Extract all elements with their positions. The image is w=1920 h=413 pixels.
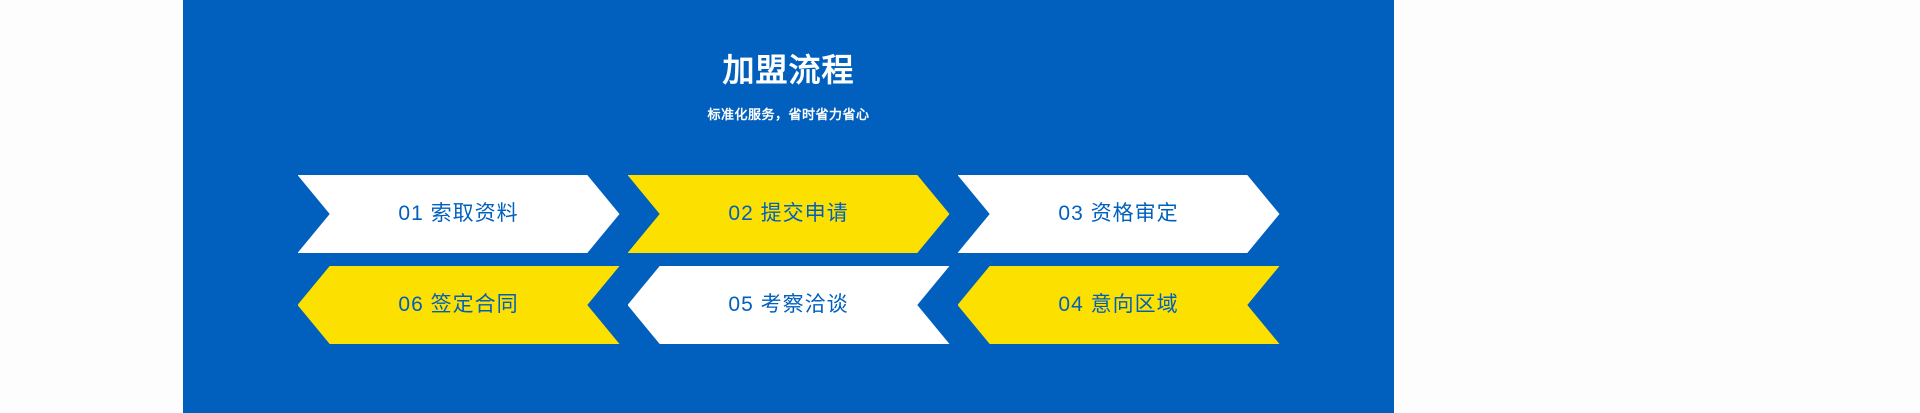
process-step-label: 01 索取资料 [384, 200, 532, 228]
process-step-03[interactable]: 03 资格审定 [958, 175, 1280, 253]
franchise-process-section: 加盟流程 标准化服务，省时省力省心 01 索取资料 02 提交申请 03 资格审… [183, 0, 1394, 413]
page-root: 加盟流程 标准化服务，省时省力省心 01 索取资料 02 提交申请 03 资格审… [0, 0, 1920, 413]
process-step-label: 03 资格审定 [1044, 200, 1192, 228]
process-flow-row-1: 01 索取资料 02 提交申请 03 资格审定 [183, 175, 1394, 253]
process-step-label: 06 签定合同 [384, 291, 532, 319]
process-flow-row-2: 06 签定合同 05 考察洽谈 04 意向区域 [183, 266, 1394, 344]
section-heading: 加盟流程 标准化服务，省时省力省心 [183, 0, 1394, 124]
process-step-05[interactable]: 05 考察洽谈 [628, 266, 950, 344]
process-step-label: 02 提交申请 [714, 200, 862, 228]
process-step-02[interactable]: 02 提交申请 [628, 175, 950, 253]
section-subtitle: 标准化服务，省时省力省心 [183, 92, 1394, 124]
page-title: 加盟流程 [183, 0, 1394, 92]
process-step-04[interactable]: 04 意向区域 [958, 266, 1280, 344]
process-step-label: 04 意向区域 [1044, 291, 1192, 319]
process-step-label: 05 考察洽谈 [714, 291, 862, 319]
process-step-06[interactable]: 06 签定合同 [298, 266, 620, 344]
process-step-01[interactable]: 01 索取资料 [298, 175, 620, 253]
process-flow: 01 索取资料 02 提交申请 03 资格审定 06 签定合同 05 考察洽谈 … [183, 175, 1394, 344]
